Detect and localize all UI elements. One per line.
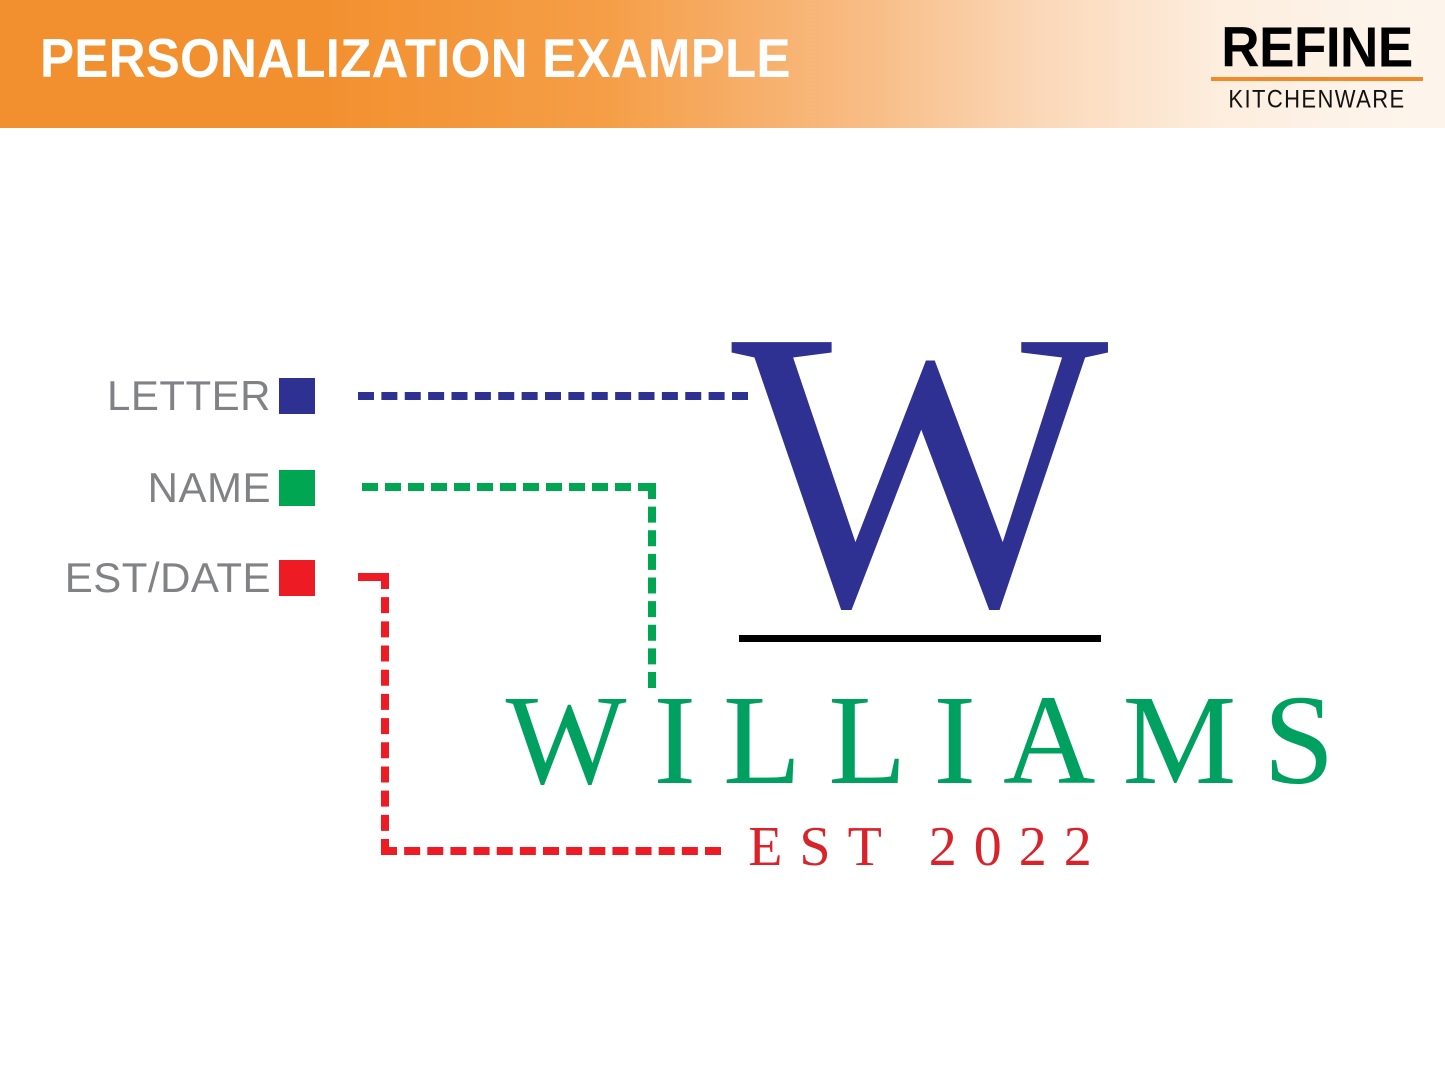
- brand-subtitle: KITCHENWARE: [1211, 86, 1423, 113]
- legend-swatch-name: [279, 470, 315, 506]
- monogram-family-name: WILLIAMS: [440, 670, 1400, 810]
- monogram-initial: W: [440, 300, 1400, 640]
- legend-item-letter: LETTER: [75, 374, 315, 418]
- brand-name: REFINE: [1209, 20, 1425, 76]
- monogram-artwork: W WILLIAMS EST 2022: [440, 300, 1400, 900]
- legend-label-est-date: EST/DATE: [65, 556, 271, 600]
- page-title: PERSONALIZATION EXAMPLE: [40, 27, 791, 89]
- legend-label-name: NAME: [148, 466, 271, 510]
- monogram-established-date: EST 2022: [440, 816, 1400, 878]
- legend-item-est-date: EST/DATE: [75, 556, 315, 600]
- legend-label-letter: LETTER: [107, 374, 271, 418]
- monogram-divider-rule: [739, 635, 1101, 642]
- legend-item-name: NAME: [75, 466, 315, 510]
- legend-swatch-est-date: [279, 560, 315, 596]
- connector-line-est-vertical: [381, 573, 389, 855]
- legend-swatch-letter: [279, 378, 315, 414]
- slide-canvas: PERSONALIZATION EXAMPLE REFINE KITCHENWA…: [0, 0, 1445, 1084]
- brand-logo: REFINE KITCHENWARE: [1211, 20, 1423, 110]
